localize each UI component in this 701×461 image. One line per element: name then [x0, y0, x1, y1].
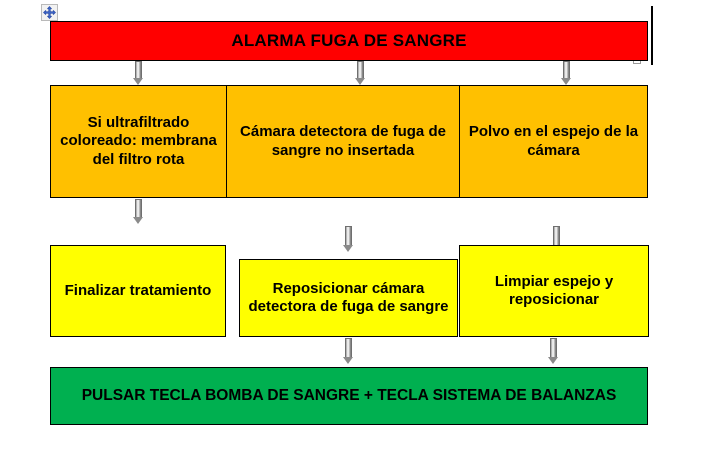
- cause-box-2[interactable]: Cámara detectora de fuga de sangre no in…: [226, 85, 460, 198]
- cause-box-3-label: Polvo en el espejo de la cámara: [466, 123, 641, 160]
- flowchart-canvas: ALARMA FUGA DE SANGRE Si ultrafiltrado c…: [0, 0, 701, 461]
- action-box-2-label: Reposicionar cámara detectora de fuga de…: [246, 280, 451, 317]
- connector-arrow-action-3-to-final: [548, 338, 559, 364]
- connector-arrow-alarm-to-cause-1: [133, 61, 144, 85]
- action-box-3[interactable]: Limpiar espejo y reposicionar: [459, 245, 649, 337]
- connector-arrow-cause-2-to-action-2: [343, 226, 354, 252]
- selection-frame-line: [651, 6, 653, 65]
- connector-arrow-alarm-to-cause-2: [355, 61, 366, 85]
- action-box-1-label: Finalizar tratamiento: [57, 282, 219, 300]
- cause-box-2-label: Cámara detectora de fuga de sangre no in…: [233, 123, 453, 160]
- cause-box-1-label: Si ultrafiltrado coloreado: membrana del…: [57, 114, 220, 169]
- cause-box-3[interactable]: Polvo en el espejo de la cámara: [459, 85, 648, 198]
- final-action-box[interactable]: PULSAR TECLA BOMBA DE SANGRE + TECLA SIS…: [50, 367, 648, 425]
- alarm-header-box[interactable]: ALARMA FUGA DE SANGRE: [50, 21, 648, 61]
- final-action-label: PULSAR TECLA BOMBA DE SANGRE + TECLA SIS…: [57, 387, 641, 406]
- action-box-1[interactable]: Finalizar tratamiento: [50, 245, 226, 337]
- move-four-arrows-icon[interactable]: [41, 4, 58, 21]
- alarm-header-label: ALARMA FUGA DE SANGRE: [57, 31, 641, 52]
- connector-arrow-cause-1-to-action-1: [133, 199, 144, 224]
- action-box-2[interactable]: Reposicionar cámara detectora de fuga de…: [239, 259, 458, 337]
- cause-box-1[interactable]: Si ultrafiltrado coloreado: membrana del…: [50, 85, 227, 198]
- connector-arrow-action-2-to-final: [343, 338, 354, 364]
- connector-arrow-alarm-to-cause-3: [561, 61, 572, 85]
- action-box-3-label: Limpiar espejo y reposicionar: [466, 273, 642, 310]
